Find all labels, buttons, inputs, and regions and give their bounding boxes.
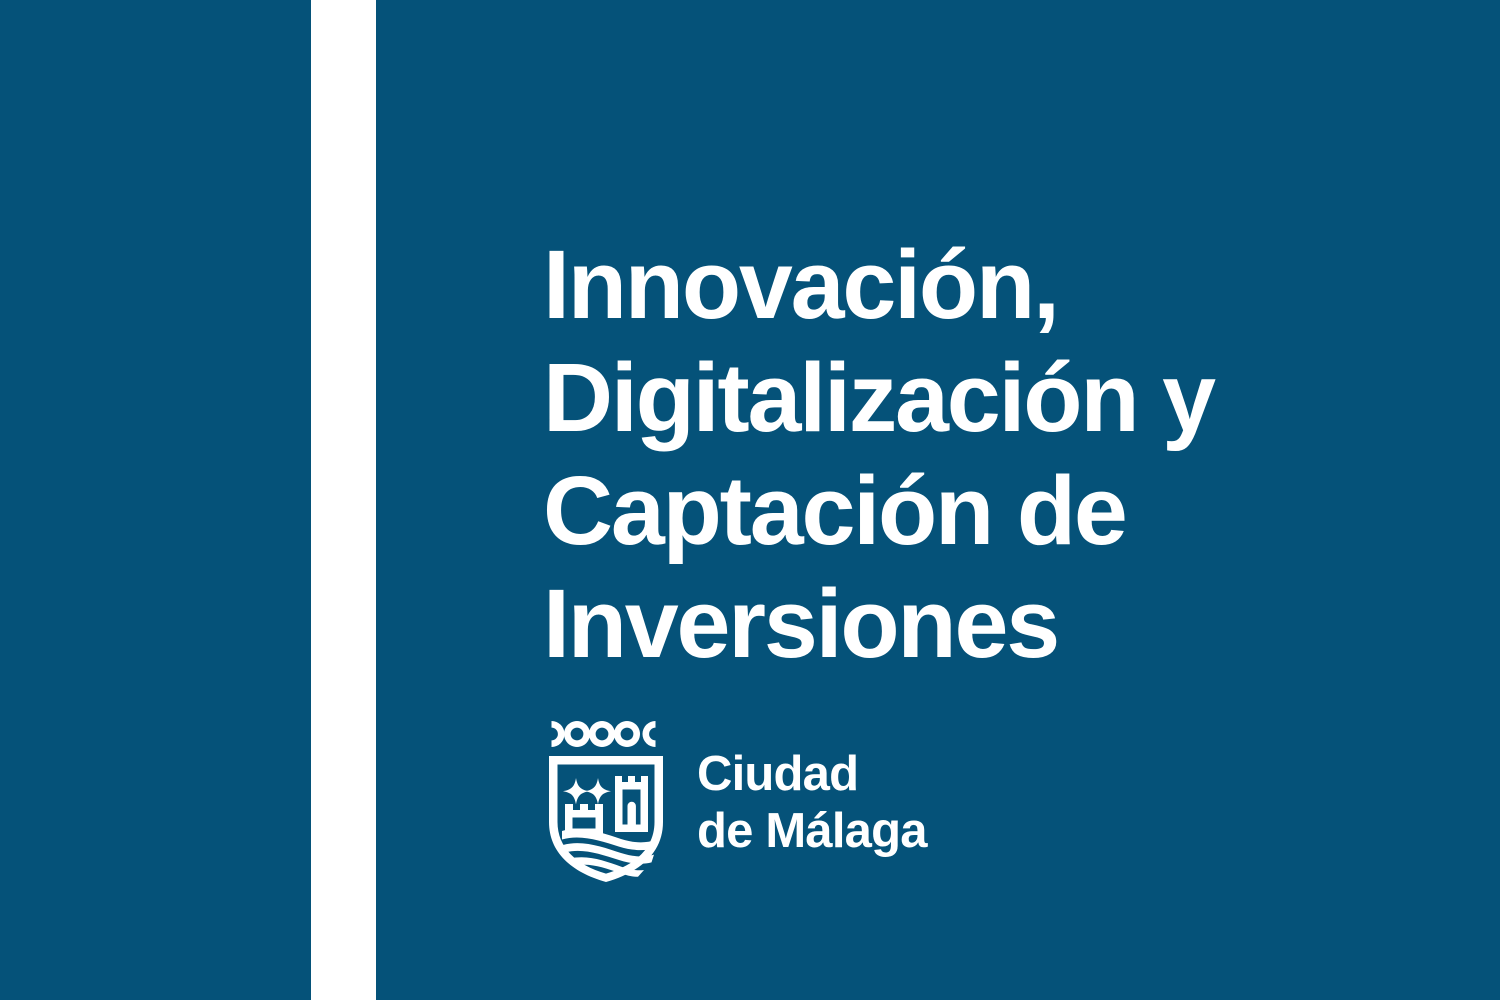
page-title: Innovación, Digitalización y Captación d… — [543, 228, 1443, 680]
logo-wordmark-line-1: Ciudad — [697, 746, 927, 803]
logo-wordmark: Ciudad de Málaga — [697, 746, 927, 860]
headline-line-2: Digitalización y — [543, 341, 1443, 454]
headline-line-1: Innovación, — [543, 228, 1443, 341]
vertical-white-stripe — [311, 0, 376, 1000]
logo-wordmark-line-2: de Málaga — [697, 803, 927, 860]
slide-canvas: Innovación, Digitalización y Captación d… — [0, 0, 1500, 1000]
headline-line-4: Inversiones — [543, 567, 1443, 680]
headline-block: Innovación, Digitalización y Captación d… — [543, 228, 1443, 680]
headline-line-3: Captación de — [543, 454, 1443, 567]
malaga-city-shield-icon — [543, 718, 669, 883]
malaga-city-logo-lockup: Ciudad de Málaga — [543, 718, 927, 883]
